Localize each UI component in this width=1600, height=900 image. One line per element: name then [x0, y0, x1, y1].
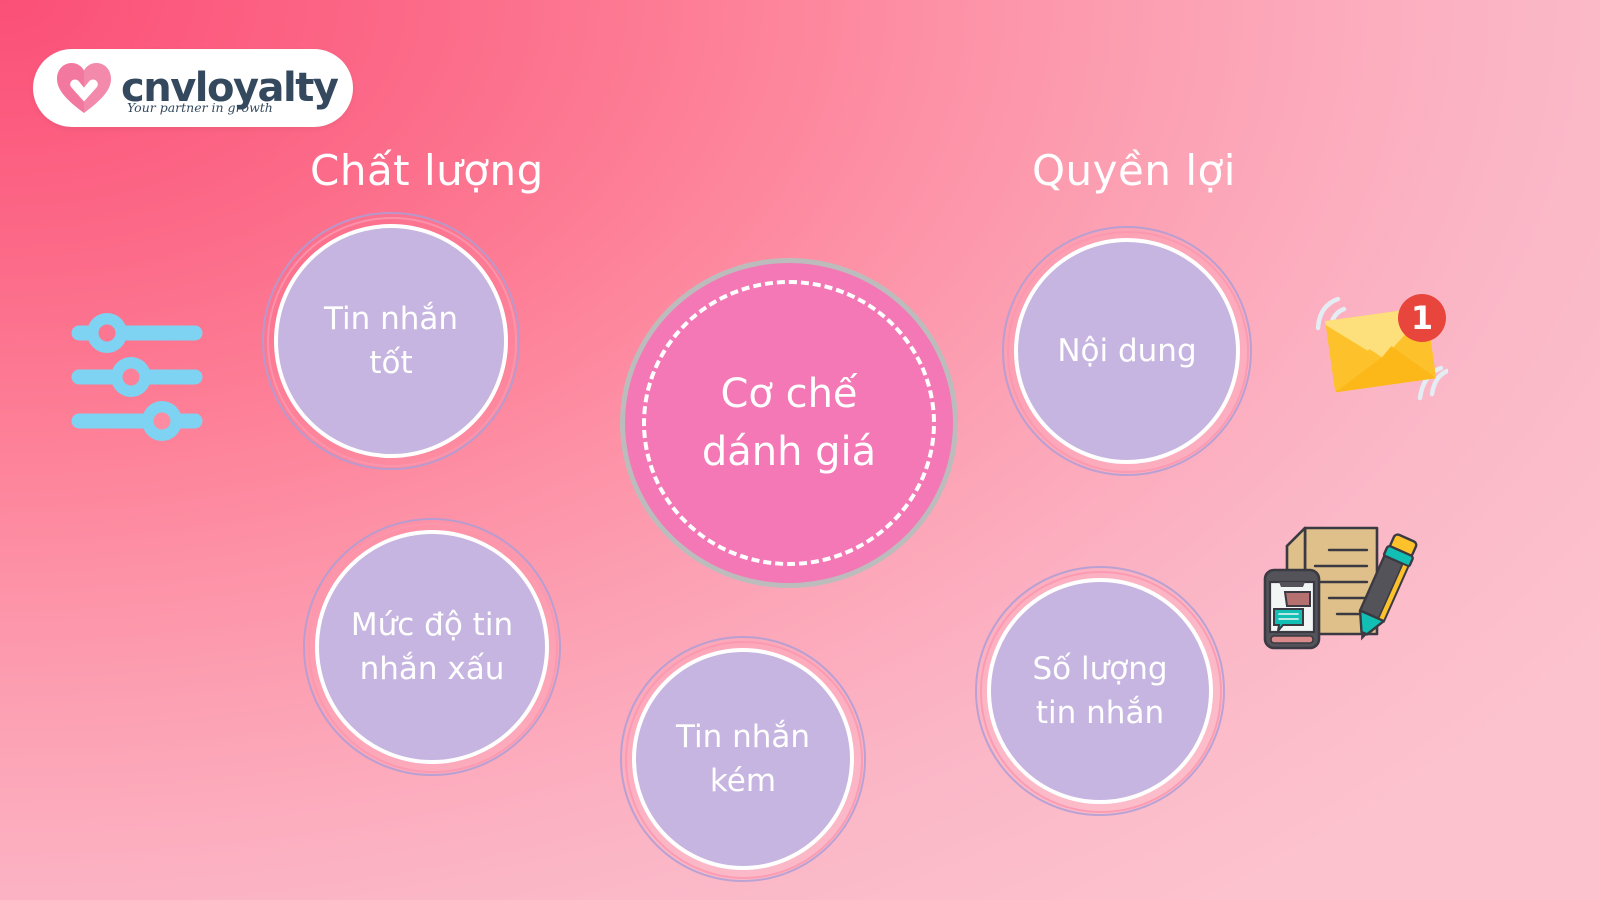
node-circle-so-luong-tin-nhan[interactable]: Số lượng tin nhắn: [975, 566, 1225, 816]
node-disc: Số lượng tin nhắn: [987, 578, 1213, 804]
node-circle-muc-do-tin-nhan-xau[interactable]: Mức độ tin nhắn xấu: [303, 518, 561, 776]
brand-logo[interactable]: cnvloyalty Your partner in growth: [33, 49, 353, 127]
node-label-noi-dung: Nội dung: [1043, 329, 1210, 373]
node-label-muc-do-tin-nhan-xau: Mức độ tin nhắn xấu: [337, 603, 527, 691]
node-disc: Nội dung: [1014, 238, 1240, 464]
node-label-so-luong-tin-nhan: Số lượng tin nhắn: [1018, 647, 1181, 735]
node-disc: Tin nhắn tốt: [274, 224, 508, 458]
node-label-tin-nhan-kem: Tin nhắn kém: [662, 715, 824, 803]
envelope-notification-icon: 1: [1308, 282, 1448, 407]
center-disc: Cơ chế dánh giá: [625, 263, 953, 583]
node-circle-tin-nhan-tot[interactable]: Tin nhắn tốt: [262, 212, 520, 470]
heading-quyen-loi: Quyền lợi: [1032, 146, 1236, 195]
center-node-co-che-danh-gia[interactable]: Cơ chế dánh giá: [620, 258, 958, 588]
brand-tagline: Your partner in growth: [127, 100, 273, 115]
node-circle-noi-dung[interactable]: Nội dung: [1002, 226, 1252, 476]
node-circle-tin-nhan-kem[interactable]: Tin nhắn kém: [620, 636, 866, 882]
envelope-badge-count: 1: [1411, 299, 1433, 337]
document-pen-phone-icon: [1255, 512, 1420, 652]
node-disc: Tin nhắn kém: [632, 648, 854, 870]
heart-icon: [55, 61, 113, 115]
sliders-icon: [70, 312, 204, 442]
node-label-tin-nhan-tot: Tin nhắn tốt: [310, 297, 472, 385]
node-disc: Mức độ tin nhắn xấu: [315, 530, 549, 764]
heading-chat-luong: Chất lượng: [310, 146, 544, 195]
center-label: Cơ chế dánh giá: [702, 365, 876, 481]
